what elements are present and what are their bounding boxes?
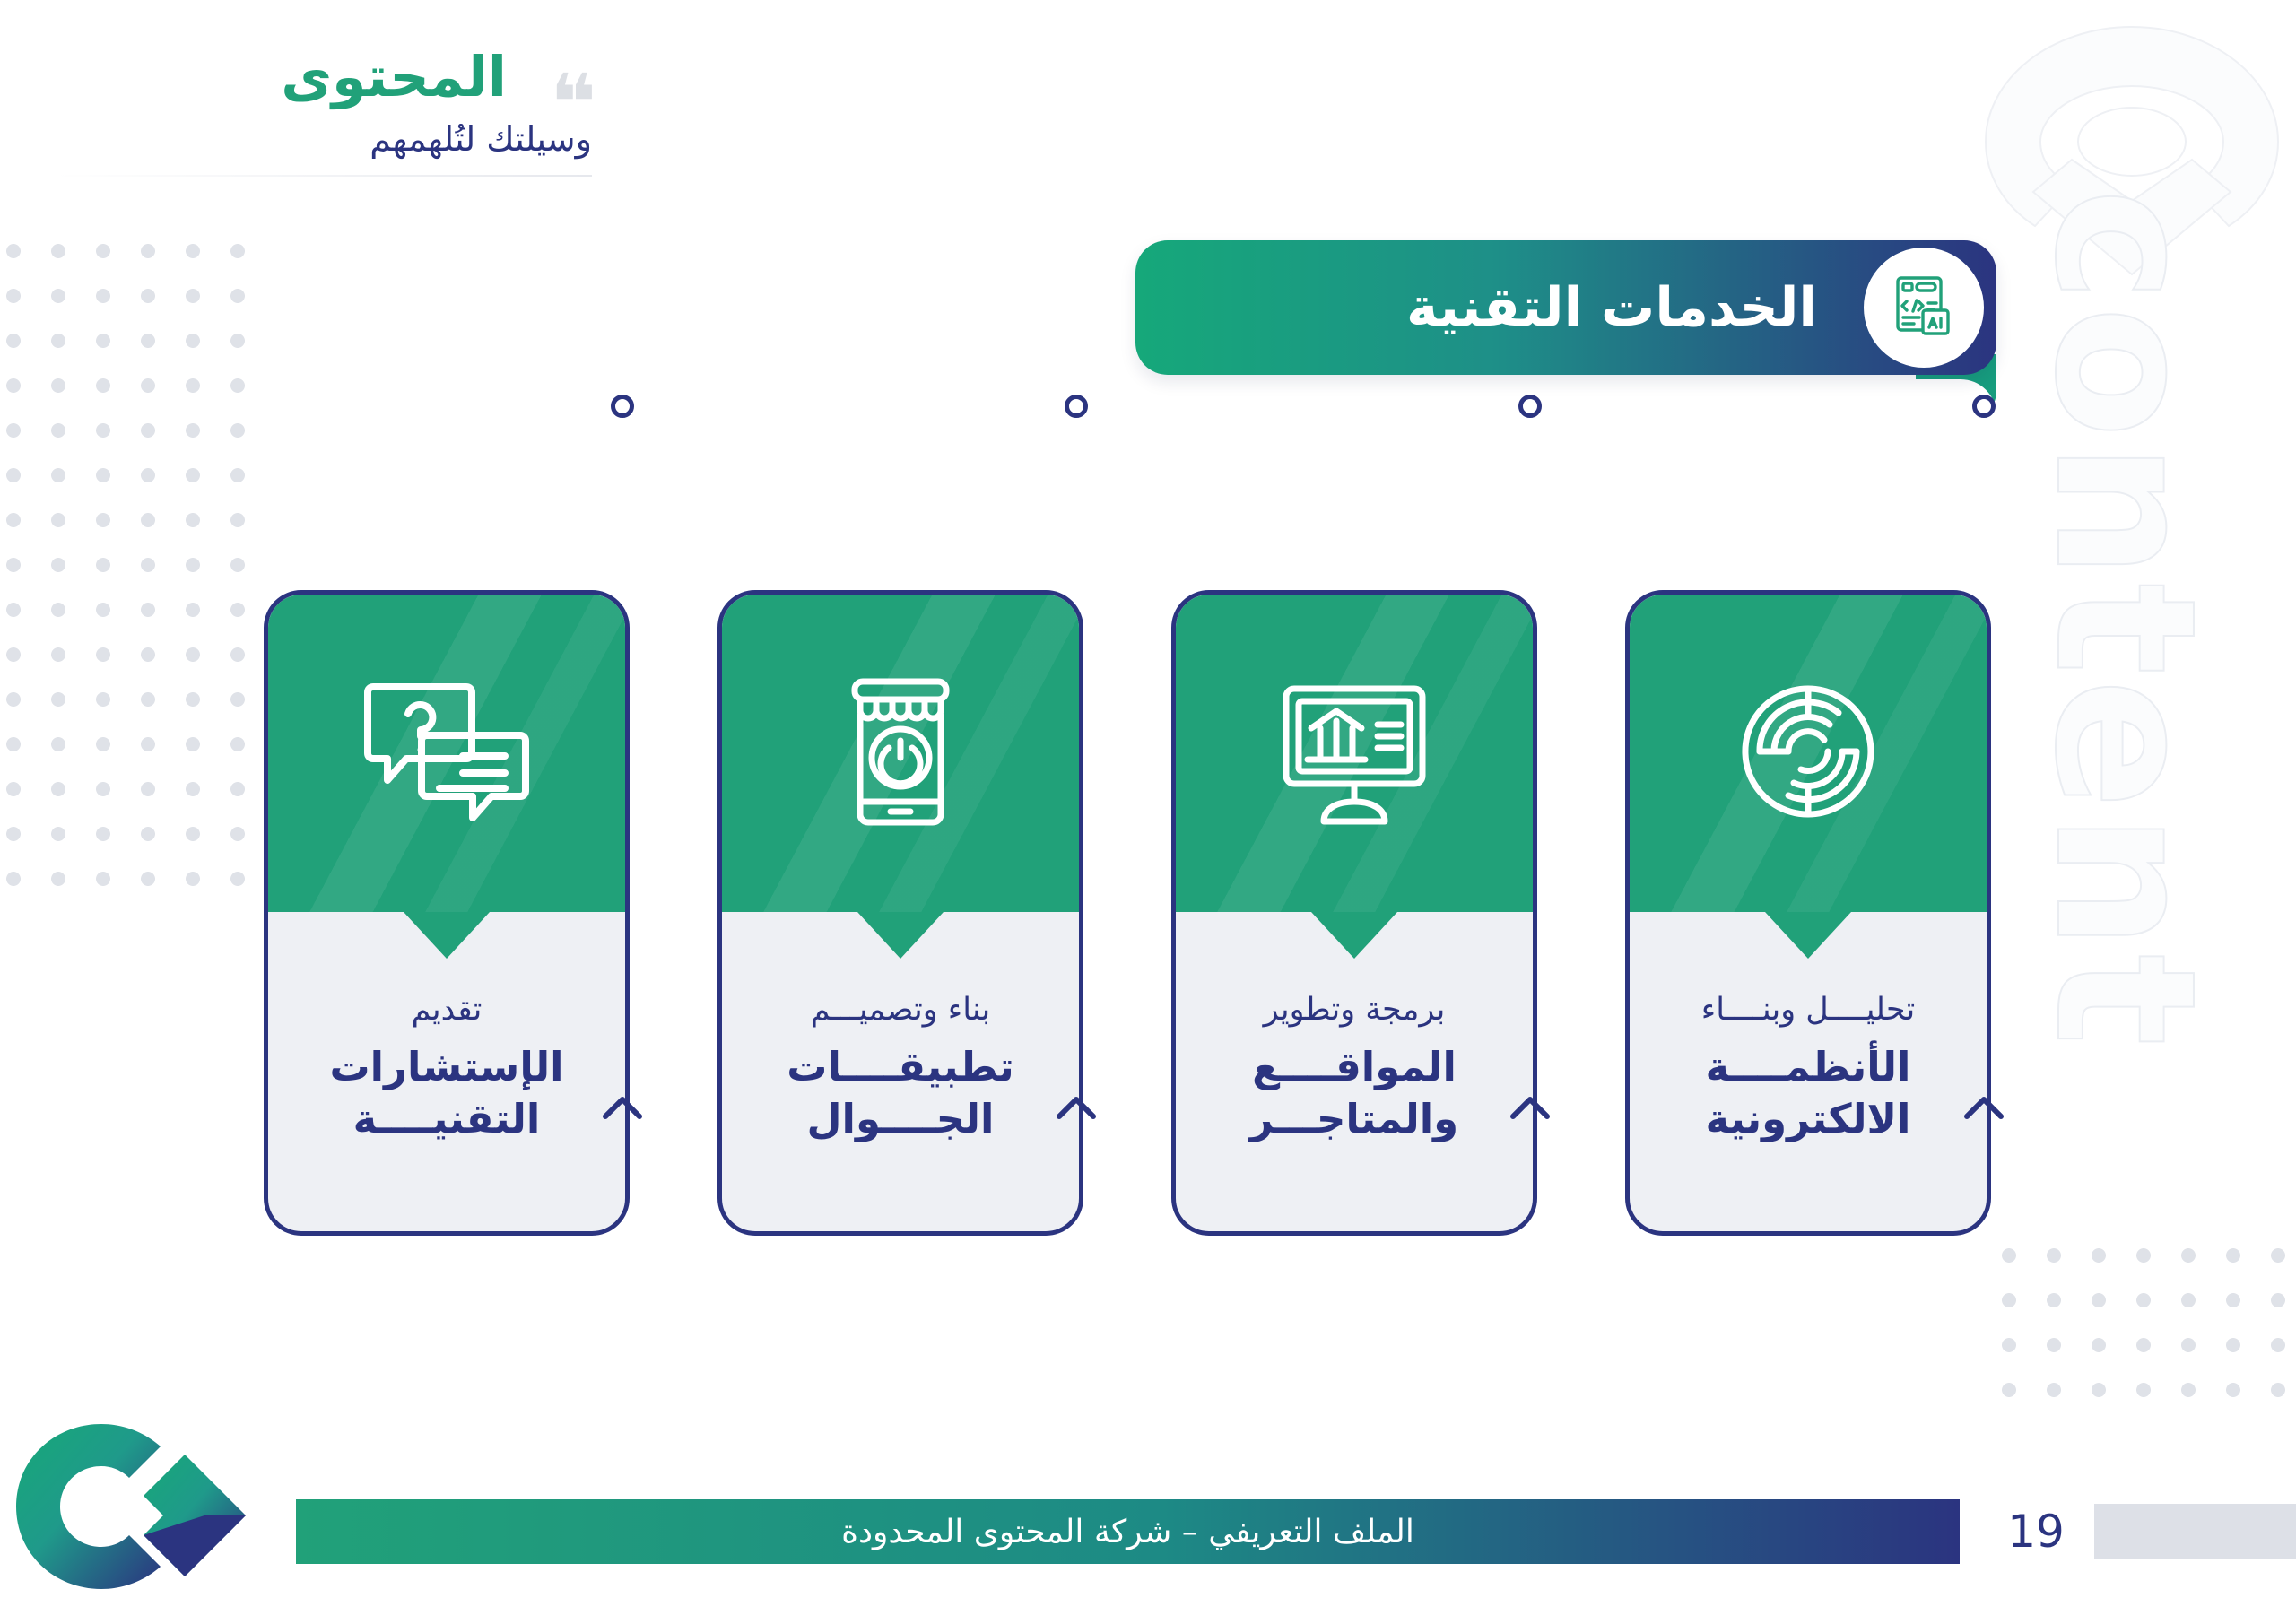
card-icon-area <box>1176 595 1533 912</box>
speech-bubbles-question-icon <box>357 671 536 836</box>
card-icon-area <box>268 595 625 912</box>
footer-text: الملف التعريفي – شركة المحتوى المحدودة <box>841 1514 1414 1550</box>
card-up-arrow-icon <box>1960 1090 2008 1138</box>
card-connector-dot <box>1065 395 1088 418</box>
card-kicker: تحليــــل وبنــــاء <box>1660 991 1956 1030</box>
card-title: الأنظمــــة الالكترونية <box>1660 1041 1956 1146</box>
service-card-mobile-apps[interactable]: بناء وتصميـــم تطبيقــــات الجــــوال <box>717 590 1083 1236</box>
card-text: بناء وتصميـــم تطبيقــــات الجــــوال <box>722 912 1079 1146</box>
card-text: تحليــــل وبنــــاء الأنظمــــة الالكترو… <box>1630 912 1987 1146</box>
code-ai-document-icon <box>1889 271 1959 344</box>
card-icon-area <box>1630 595 1987 912</box>
content-logo-icon <box>9 1417 278 1610</box>
card-text: تقديم الإستشارات التقنيــــة <box>268 912 625 1146</box>
header-banner: الخدمات التقنية <box>1135 240 1996 375</box>
card-text: برمجة وتطوير المواقــــع والمتاجـــر <box>1176 912 1533 1146</box>
card-kicker: تقديم <box>299 991 595 1030</box>
circular-maze-icon <box>1731 674 1885 832</box>
desktop-monitor-building-icon <box>1274 674 1435 832</box>
footer-bar: الملف التعريفي – شركة المحتوى المحدودة <box>296 1499 1960 1564</box>
card-up-arrow-icon <box>598 1090 647 1138</box>
page-title: الخدمات التقنية <box>1406 240 1817 375</box>
card-title: تطبيقــــات الجــــوال <box>752 1041 1048 1146</box>
service-card-consulting[interactable]: تقديم الإستشارات التقنيــــة <box>264 590 630 1236</box>
card-up-arrow-icon <box>1506 1090 1554 1138</box>
dot-pattern-left <box>0 229 251 906</box>
card-title: المواقــــع والمتاجـــر <box>1206 1041 1502 1146</box>
service-card-websites[interactable]: برمجة وتطوير المواقــــع والمتاجـــر <box>1171 590 1537 1236</box>
card-connector-dot <box>1972 395 1996 418</box>
slide-canvas: content ❝ المحتوى وسيلتك لتُلهمهم الخدما… <box>0 0 2296 1624</box>
service-card-systems[interactable]: تحليــــل وبنــــاء الأنظمــــة الالكترو… <box>1625 590 1991 1236</box>
card-up-arrow-icon <box>1052 1090 1100 1138</box>
page-number: 19 <box>1987 1499 2085 1564</box>
card-icon-area <box>722 595 1079 912</box>
card-title: الإستشارات التقنيــــة <box>299 1041 595 1146</box>
card-connector-dot <box>611 395 634 418</box>
footer-accent-block <box>2094 1504 2296 1559</box>
card-kicker: برمجة وتطوير <box>1206 991 1502 1030</box>
watermark-word: content <box>1937 430 2296 807</box>
card-connector-dot <box>1518 395 1542 418</box>
brand-divider <box>54 175 592 177</box>
card-kicker: بناء وتصميـــم <box>752 991 1048 1030</box>
header-icon-badge <box>1864 248 1984 368</box>
dot-pattern-bottom-right <box>1987 1233 2296 1417</box>
brand-name: المحتوى <box>281 49 507 105</box>
brand-tagline: وسيلتك لتُلهمهم <box>370 119 592 159</box>
mobile-shop-power-icon <box>833 671 968 836</box>
brand-lockup: ❝ المحتوى وسيلتك لتُلهمهم <box>36 49 619 175</box>
